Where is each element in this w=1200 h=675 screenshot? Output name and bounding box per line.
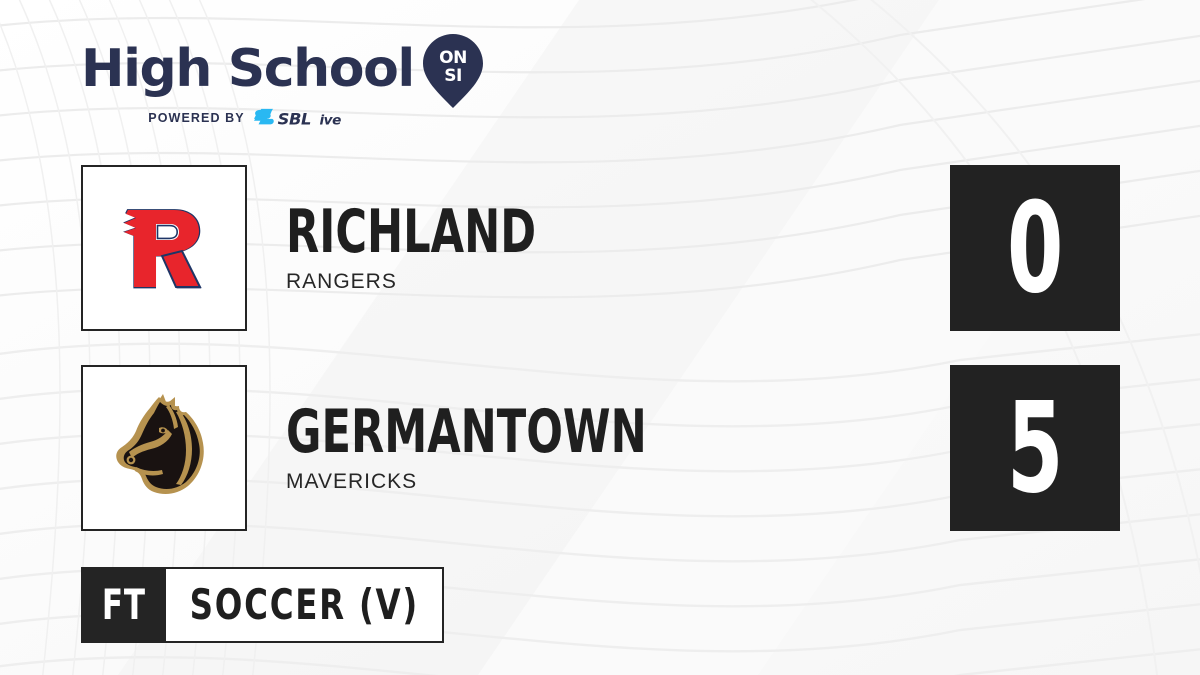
team-mascot: MAVERICKS (286, 469, 737, 495)
sblive-wordmark-part1: SBL (277, 109, 310, 128)
richland-rangers-r-logo-icon (104, 188, 224, 308)
team-logo-container-germantown (81, 365, 247, 531)
team-info-richland: RICHLAND RANGERS (286, 165, 599, 331)
on-si-badge-line2: SI (444, 66, 462, 86)
team-score-box-germantown: 5 (950, 365, 1120, 531)
page-title: High School (81, 39, 414, 99)
sblive-wordmark-part2: ive (319, 112, 341, 128)
team-score: 0 (1007, 186, 1063, 311)
brand-header: High School ON SI POWERED BY SBL ive (81, 36, 511, 136)
status-period-label: FT (102, 584, 146, 626)
status-sport-box: SOCCER (V) (166, 567, 444, 643)
team-name: GERMANTOWN (286, 401, 647, 463)
team-score: 5 (1007, 386, 1063, 511)
team-logo-container-richland (81, 165, 247, 331)
status-period-box: FT (81, 567, 166, 643)
team-info-germantown: GERMANTOWN MAVERICKS (286, 365, 737, 531)
sblive-logo: SBL ive (254, 108, 374, 128)
on-si-badge-line1: ON (439, 48, 467, 68)
status-sport-label: SOCCER (V) (189, 584, 418, 626)
team-score-box-richland: 0 (950, 165, 1120, 331)
powered-by-row: POWERED BY SBL ive (81, 108, 441, 128)
team-row: GERMANTOWN MAVERICKS 5 (81, 365, 1121, 535)
team-row: RICHLAND RANGERS 0 (81, 165, 1121, 335)
team-name: RICHLAND (286, 201, 536, 263)
game-status-bar: FT SOCCER (V) (81, 567, 444, 643)
on-si-pin-icon: ON SI (422, 33, 484, 109)
score-card: High School ON SI POWERED BY SBL ive (0, 0, 1200, 675)
brand-title-row: High School ON SI (81, 36, 511, 102)
team-mascot: RANGERS (286, 269, 599, 295)
germantown-mavericks-horse-logo-icon (102, 386, 226, 510)
powered-by-label: POWERED BY (148, 111, 244, 125)
